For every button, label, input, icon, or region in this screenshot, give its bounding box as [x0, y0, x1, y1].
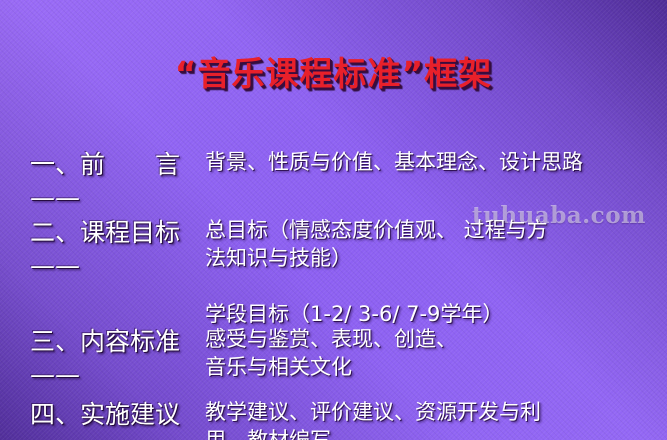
outline-row-line: 总目标（情感态度价值观、 过程与方	[205, 216, 659, 244]
outline-row-label: 三、内容标准——	[0, 325, 205, 391]
outline-row-line: 用、教材编写	[205, 426, 659, 440]
outline-row-label: 二、课程目标——	[0, 216, 205, 282]
outline-row-line: 背景、性质与价值、基本理念、设计思路	[205, 148, 659, 176]
outline-row: 二、课程目标—— 总目标（情感态度价值观、 过程与方 法知识与技能） 学段目标（…	[0, 216, 667, 329]
outline-row-label: 一、前 言 ——	[0, 148, 205, 214]
presentation-slide: “音乐课程标准”框架 tuhuaba.com 一、前 言 —— 背景、性质与价值…	[0, 0, 667, 440]
outline-row-content: 感受与鉴赏、表现、创造、 音乐与相关文化	[205, 325, 667, 381]
outline-row: 三、内容标准—— 感受与鉴赏、表现、创造、 音乐与相关文化	[0, 325, 667, 391]
outline-row-line: 感受与鉴赏、表现、创造、	[205, 325, 659, 353]
outline-row-line: 音乐与相关文化	[205, 353, 659, 381]
outline-row-line: 法知识与技能）	[205, 244, 659, 272]
outline-row-label: 四、实施建议——	[0, 398, 205, 440]
outline-row-content: 背景、性质与价值、基本理念、设计思路	[205, 148, 667, 176]
slide-title: “音乐课程标准”框架	[0, 55, 667, 93]
outline-row-line: 教学建议、评价建议、资源开发与利	[205, 398, 659, 426]
outline-row: 四、实施建议—— 教学建议、评价建议、资源开发与利 用、教材编写	[0, 398, 667, 440]
outline-row: 一、前 言 —— 背景、性质与价值、基本理念、设计思路	[0, 148, 667, 214]
outline-row-content: 教学建议、评价建议、资源开发与利 用、教材编写	[205, 398, 667, 440]
outline-row-content: 总目标（情感态度价值观、 过程与方 法知识与技能） 学段目标（1-2/ 3-6/…	[205, 216, 667, 329]
outline-row-spacer	[205, 272, 659, 300]
